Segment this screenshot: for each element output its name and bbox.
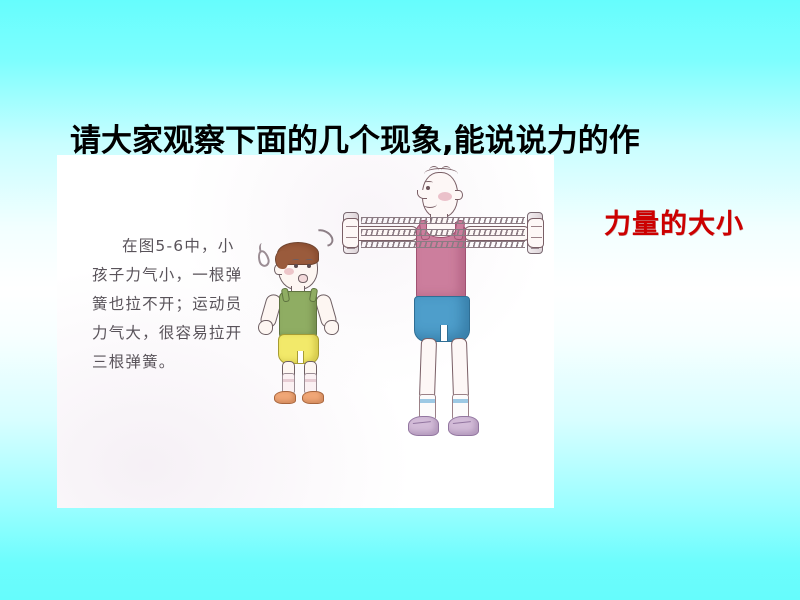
boy-shoe-right [302,391,324,404]
athlete-nose [417,190,427,199]
illustration-small-boy [252,228,344,408]
illustration-athlete [338,168,548,460]
sweat-drop-icon [256,249,271,268]
boy-eyebrow-right [305,259,313,262]
boy-mouth [298,274,308,283]
boy-cheek-blush [284,268,294,275]
boy-strap-left [281,287,290,302]
boy-eye-left [294,264,298,268]
athlete-cheek-blush [438,192,452,201]
athlete-hand-left [342,218,359,248]
athlete-shoe-left [408,416,439,436]
athlete-ear [455,190,463,200]
athlete-mouth [423,200,437,208]
athlete-shoe-right [448,416,479,436]
boy-shorts [278,334,319,364]
athlete-hand-right [527,218,544,248]
spring-2 [361,229,525,236]
red-annotation-label: 力量的大小 [604,209,744,241]
spring-1 [361,217,525,224]
athlete-leg-right [451,338,469,401]
spring-3 [361,241,525,248]
athlete-eyebrow [424,181,433,184]
boy-eyebrow-left [292,259,300,262]
boy-fist-right [324,320,339,335]
boy-fist-left [258,320,273,335]
figure-caption-text: 在图5-6中，小孩子力气小，一根弹簧也拉不开；运动员力气大，很容易拉开三根弹簧。 [92,232,244,377]
spring-expander-icon [337,214,549,256]
athlete-hair [424,168,458,180]
boy-eye-right [307,264,311,268]
athlete-shorts [414,296,470,342]
athlete-leg-left [419,338,437,401]
boy-shoe-left [274,391,296,404]
